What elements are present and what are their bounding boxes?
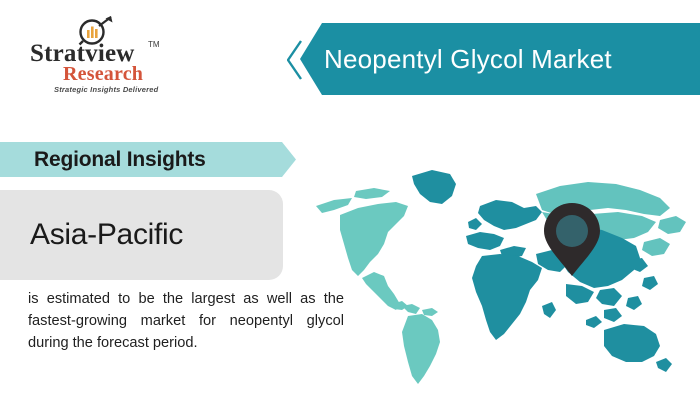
- double-chevron-left-icon: [287, 40, 303, 80]
- region-description: is estimated to be the largest as well a…: [28, 288, 344, 354]
- region-name: Asia-Pacific: [0, 190, 283, 280]
- world-map: [304, 158, 700, 404]
- map-region-north-america: [316, 188, 438, 316]
- slide-canvas: Stratview TM Research Strategic Insights…: [0, 0, 700, 411]
- map-region-greenland: [412, 170, 456, 204]
- page-title: Neopentyl Glycol Market: [324, 23, 700, 95]
- map-region-oceania: [586, 316, 672, 372]
- trademark-symbol: TM: [148, 40, 160, 49]
- map-region-europe: [466, 200, 542, 258]
- regional-insights-label: Regional Insights: [34, 142, 206, 177]
- world-map-svg: [304, 158, 700, 404]
- brand-logo: Stratview TM Research Strategic Insights…: [30, 14, 175, 94]
- brand-name-secondary: Research: [63, 64, 143, 84]
- brand-tagline: Strategic Insights Delivered: [54, 85, 158, 94]
